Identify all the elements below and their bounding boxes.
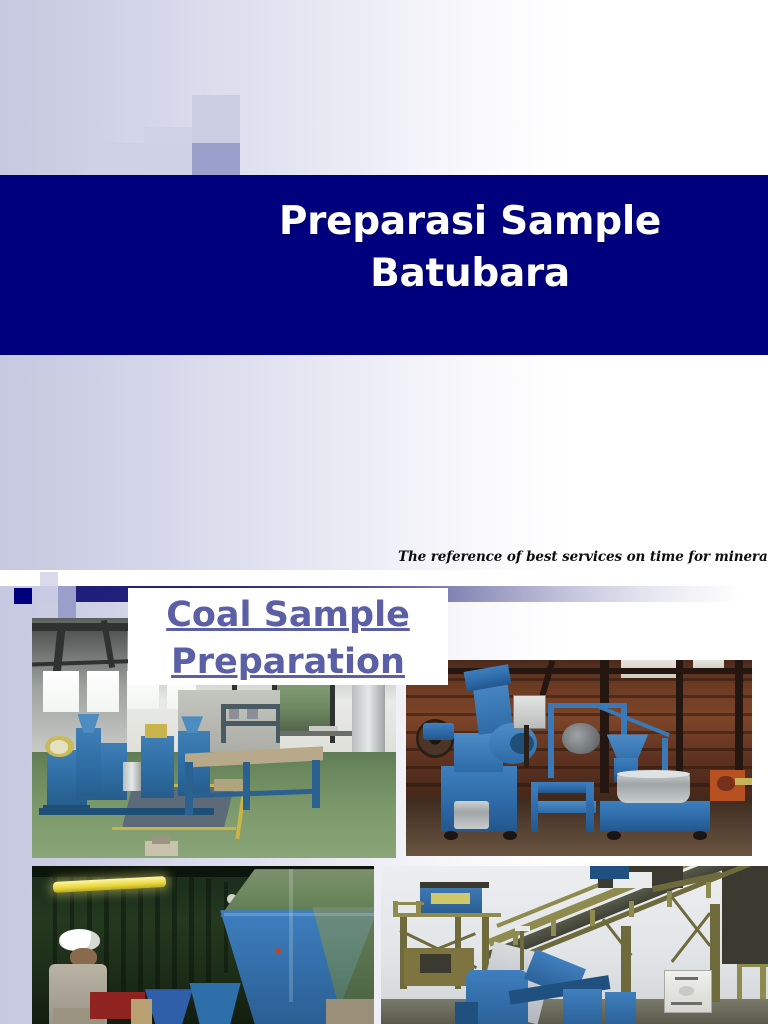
photo-plant-conveyor	[381, 866, 768, 1024]
photo-crusher-unit	[406, 660, 752, 856]
section-heading: Coal Sample Preparation	[128, 592, 448, 686]
slide-root: Preparasi Sample Batubara The reference …	[0, 0, 768, 1024]
mini-square-mid-d	[58, 602, 76, 618]
page-title-line-2: Batubara	[180, 248, 760, 300]
mini-square-pale-c	[40, 572, 58, 586]
mini-square-pale-a	[40, 586, 58, 602]
page-title: Preparasi Sample Batubara	[180, 196, 760, 300]
page-title-line-1: Preparasi Sample	[180, 196, 760, 248]
bottom-band-backdrop	[0, 570, 768, 586]
mini-square-mid-b	[58, 586, 76, 602]
title-banner-left-notch	[0, 175, 100, 355]
section-heading-line-1: Coal Sample	[128, 592, 448, 639]
tagline: The reference of best services on time f…	[398, 549, 738, 565]
square-pale-h	[192, 95, 240, 143]
photo-worker-hopper	[32, 866, 374, 1024]
section-heading-line-2: Preparation	[128, 639, 448, 686]
mini-square-navy	[14, 588, 32, 604]
